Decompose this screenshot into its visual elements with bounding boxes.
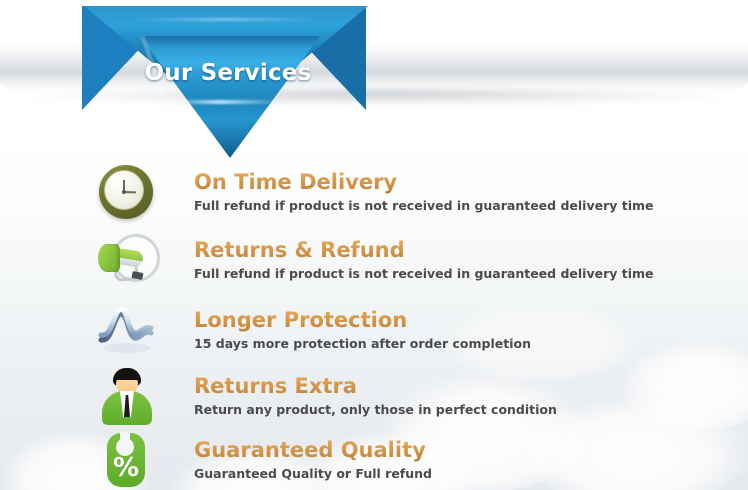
service-description: Full refund if product is not received i… xyxy=(194,266,654,281)
services-banner-graphic: Our Services On Time Delivery Full refun… xyxy=(0,0,748,490)
megaphone-icon xyxy=(96,230,158,292)
wave-glyph xyxy=(96,304,158,358)
percent-symbol: % xyxy=(107,452,145,484)
service-text: Longer Protection 15 days more protectio… xyxy=(194,309,531,351)
service-item-on-time-delivery: On Time Delivery Full refund if product … xyxy=(96,159,716,227)
banner-triangle: Our Services xyxy=(78,0,378,165)
megaphone-cone xyxy=(98,244,120,272)
person-hair-fringe xyxy=(114,371,140,380)
service-item-guaranteed-quality: % Guaranteed Quality Guaranteed Quality … xyxy=(96,427,716,490)
banner-highlight-front xyxy=(166,100,284,104)
service-text: Returns Extra Return any product, only t… xyxy=(194,375,557,417)
percent-tag-icon: % xyxy=(96,430,158,490)
service-text: Returns & Refund Full refund if product … xyxy=(194,239,654,281)
wave-chart-icon xyxy=(96,300,158,362)
service-description: 15 days more protection after order comp… xyxy=(194,336,531,351)
service-item-returns-extra: Returns Extra Return any product, only t… xyxy=(96,363,716,431)
clock-face xyxy=(104,170,144,210)
person-icon xyxy=(96,366,158,428)
service-title: Guaranteed Quality xyxy=(194,439,432,463)
banner-title: Our Services xyxy=(78,58,378,88)
service-description: Return any product, only those in perfec… xyxy=(194,402,557,417)
service-item-returns-refund: Returns & Refund Full refund if product … xyxy=(96,227,716,295)
tag-slot xyxy=(120,432,130,444)
service-description: Full refund if product is not received i… xyxy=(194,198,654,213)
service-description: Guaranteed Quality or Full refund xyxy=(194,466,432,481)
service-text: Guaranteed Quality Guaranteed Quality or… xyxy=(194,439,432,481)
clock-icon xyxy=(96,162,158,224)
clock-center-pin xyxy=(122,190,126,194)
service-title: Returns Extra xyxy=(194,375,557,399)
service-title: On Time Delivery xyxy=(194,171,654,195)
banner-highlight-back xyxy=(130,18,320,21)
service-title: Returns & Refund xyxy=(194,239,654,263)
service-title: Longer Protection xyxy=(194,309,531,333)
service-text: On Time Delivery Full refund if product … xyxy=(194,171,654,213)
service-item-longer-protection: Longer Protection 15 days more protectio… xyxy=(96,297,716,365)
